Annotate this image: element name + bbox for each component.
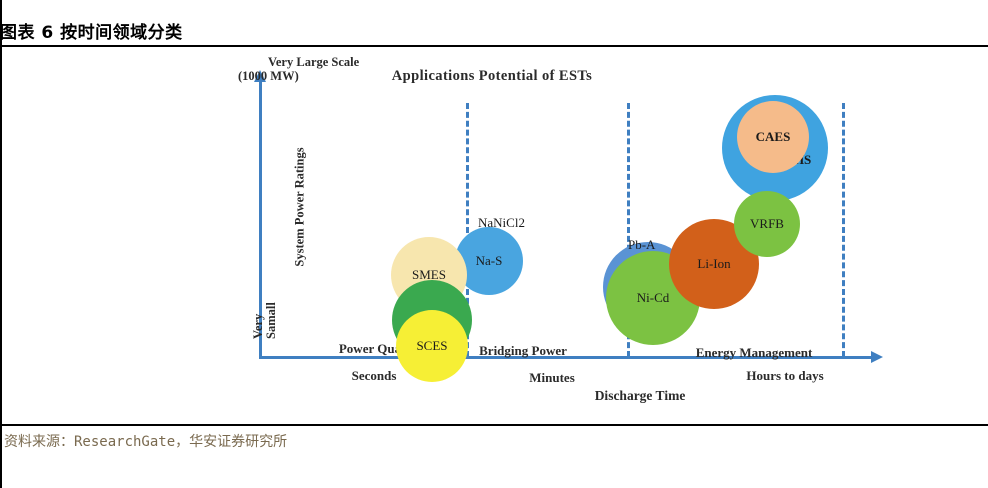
chart-canvas: Applications Potential of ESTs Very Larg… bbox=[0, 47, 988, 423]
x-tick-seconds: Seconds bbox=[352, 368, 397, 384]
zone-label-bridging-power: Bridging Power bbox=[479, 343, 567, 359]
x-axis-title: Discharge Time bbox=[595, 388, 686, 404]
zone-divider-3 bbox=[842, 103, 845, 357]
bubble-caes[interactable]: CAES bbox=[737, 101, 809, 173]
chart-title: Applications Potential of ESTs bbox=[392, 68, 592, 85]
footer-divider-rule bbox=[0, 424, 988, 426]
y-axis-top-sublabel-text: (1000 MW) bbox=[238, 69, 359, 83]
y-axis-top-label: Very Large Scale (1000 MW) bbox=[268, 55, 359, 83]
x-tick-minutes: Minutes bbox=[529, 370, 575, 386]
y-axis-bottom-label: Very Samall bbox=[252, 302, 278, 339]
bubble-vrfb[interactable]: VRFB bbox=[734, 191, 800, 257]
zone-label-energy-management: Energy Management bbox=[696, 345, 813, 361]
page-title: 图表 6 按时间领域分类 bbox=[0, 18, 183, 43]
bubble-label-nanicl2: NaNiCl2 bbox=[478, 215, 525, 231]
bubble-sces[interactable]: SCES bbox=[396, 310, 468, 382]
x-axis-arrow-icon bbox=[871, 351, 883, 363]
x-tick-hours-to-days: Hours to days bbox=[746, 368, 823, 384]
source-citation: 资料来源：ResearchGate，华安证券研究所 bbox=[4, 431, 287, 451]
y-axis-top-label-text: Very Large Scale bbox=[268, 55, 359, 69]
y-axis-title: System Power Ratings bbox=[293, 147, 308, 266]
y-axis-bottom-label-line2: Samall bbox=[265, 302, 278, 339]
